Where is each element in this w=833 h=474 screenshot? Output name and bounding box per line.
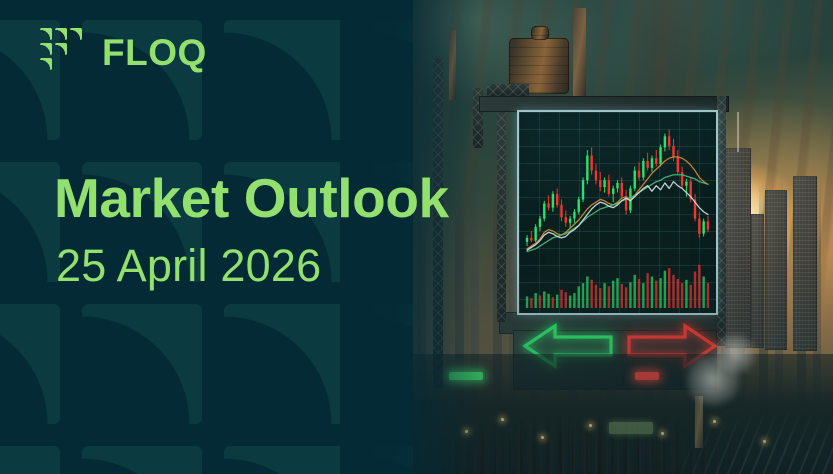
logo-fin (55, 28, 67, 40)
page-date: 25 April 2026 (56, 242, 321, 289)
industrial-city-scene (413, 0, 833, 474)
watermark-fin (224, 20, 344, 140)
brand-logo[interactable]: FLOQ (40, 28, 207, 76)
atmospheric-haze (413, 0, 833, 474)
watermark-fin (0, 446, 60, 474)
page-title: Market Outlook (54, 170, 449, 226)
logo-fin (40, 58, 52, 70)
floq-fin-grid-icon (40, 28, 85, 76)
watermark-fin (0, 304, 60, 424)
logo-fin (70, 28, 82, 40)
watermark-fin (0, 162, 60, 282)
logo-fin (40, 43, 52, 55)
logo-fin (55, 43, 67, 55)
logo-fin (40, 28, 52, 40)
market-outlook-banner: FLOQ Market Outlook 25 April 2026 (0, 0, 833, 474)
watermark-fin (82, 304, 202, 424)
watermark-fin (224, 446, 344, 474)
watermark-fin (224, 304, 344, 424)
brand-name: FLOQ (102, 34, 207, 71)
watermark-fin (82, 446, 202, 474)
